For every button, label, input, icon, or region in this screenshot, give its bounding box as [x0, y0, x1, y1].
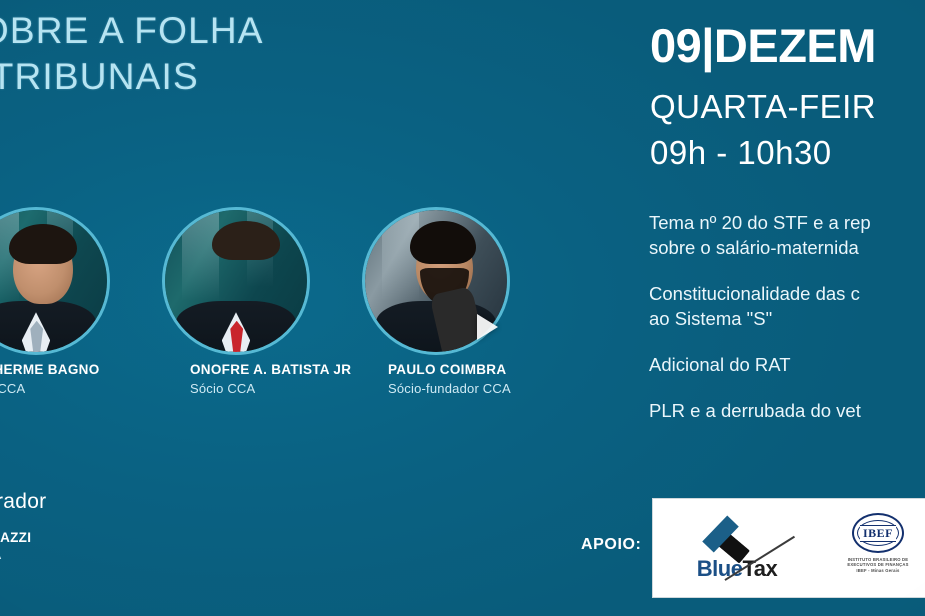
- sponsors-label: APOIO:: [581, 536, 642, 554]
- play-triangle: [477, 314, 498, 340]
- topic-item-3: Adicional do RAT: [649, 352, 925, 377]
- speaker-name: ONOFRE A. BATISTA JR: [190, 362, 351, 378]
- topic-item-2: Constitucionalidade das c ao Sistema "S": [649, 281, 925, 331]
- event-title-line-1: SOBRE A FOLHA: [0, 8, 514, 54]
- speaker-role: Sócio-fundador CCA: [388, 380, 511, 397]
- speaker-role: Sócio CCA: [190, 380, 351, 397]
- hair-shape: [212, 221, 280, 259]
- avatar: [165, 210, 307, 352]
- topic-line: Tema nº 20 do STF e a rep: [649, 210, 925, 235]
- topic-line: Adicional do RAT: [649, 352, 925, 377]
- ibef-subtitle: INSTITUTO BRASILEIRO DE EXECUTIVOS DE FI…: [847, 557, 908, 573]
- hair-shape: [410, 221, 475, 264]
- event-weekday: QUARTA-FEIR: [650, 88, 876, 126]
- sponsors-panel: BlueTax IBEF INSTITUTO BRASILEIRO DE EXE…: [652, 498, 925, 598]
- event-date: 09|DEZEM: [650, 18, 876, 73]
- topic-line: sobre o salário-maternida: [649, 235, 925, 260]
- speaker-caption-2: ONOFRE A. BATISTA JR Sócio CCA: [190, 362, 351, 397]
- topic-item-4: PLR e a derrubada do vet: [649, 398, 925, 423]
- speaker-role: Sócio CCA: [0, 380, 100, 397]
- topic-line: PLR e a derrubada do vet: [649, 398, 925, 423]
- moderator-block: oderador IPE PIAZZI io CCA: [0, 490, 300, 562]
- topic-item-1: Tema nº 20 do STF e a rep sobre o salári…: [649, 210, 925, 260]
- ibef-acronym: IBEF: [860, 525, 896, 542]
- topic-list: Tema nº 20 do STF e a rep sobre o salári…: [649, 210, 925, 444]
- moderator-label: oderador: [0, 490, 300, 514]
- ibef-seal-icon: IBEF: [852, 513, 904, 553]
- event-time: 09h - 10h30: [650, 134, 832, 172]
- moderator-role: io CCA: [0, 547, 300, 562]
- speaker-portrait-1: [0, 207, 110, 355]
- hair-shape: [9, 224, 77, 264]
- ibef-subtitle-line-3: IBEF - Minas Gerais: [847, 568, 908, 573]
- bluetax-mark-icon: [700, 509, 774, 555]
- sponsor-logo-ibef: IBEF INSTITUTO BRASILEIRO DE EXECUTIVOS …: [823, 513, 925, 573]
- speaker-name: GUILHERME BAGNO: [0, 362, 100, 378]
- window-highlight: [182, 210, 219, 301]
- topic-line: Constitucionalidade das c: [649, 281, 925, 306]
- speaker-captions: GUILHERME BAGNO Sócio CCA ONOFRE A. BATI…: [0, 362, 600, 412]
- event-details-panel: 09|DEZEM QUARTA-FEIR 09h - 10h30 Tema nº…: [645, 0, 925, 616]
- play-icon[interactable]: [466, 308, 504, 346]
- event-title: SOBRE A FOLHA S TRIBUNAIS: [0, 8, 514, 100]
- speaker-portrait-2: [162, 207, 310, 355]
- speaker-caption-3: PAULO COIMBRA Sócio-fundador CCA: [388, 362, 511, 397]
- moderator-name: IPE PIAZZI: [0, 530, 300, 545]
- speaker-name: PAULO COIMBRA: [388, 362, 511, 378]
- avatar: [0, 210, 107, 352]
- event-title-line-2: S TRIBUNAIS: [0, 54, 514, 100]
- topic-line: ao Sistema "S": [649, 306, 925, 331]
- video-frame[interactable]: SOBRE A FOLHA S TRIBUNAIS: [0, 0, 925, 616]
- speaker-caption-1: GUILHERME BAGNO Sócio CCA: [0, 362, 100, 397]
- sponsor-logo-bluetax: BlueTax: [678, 509, 796, 582]
